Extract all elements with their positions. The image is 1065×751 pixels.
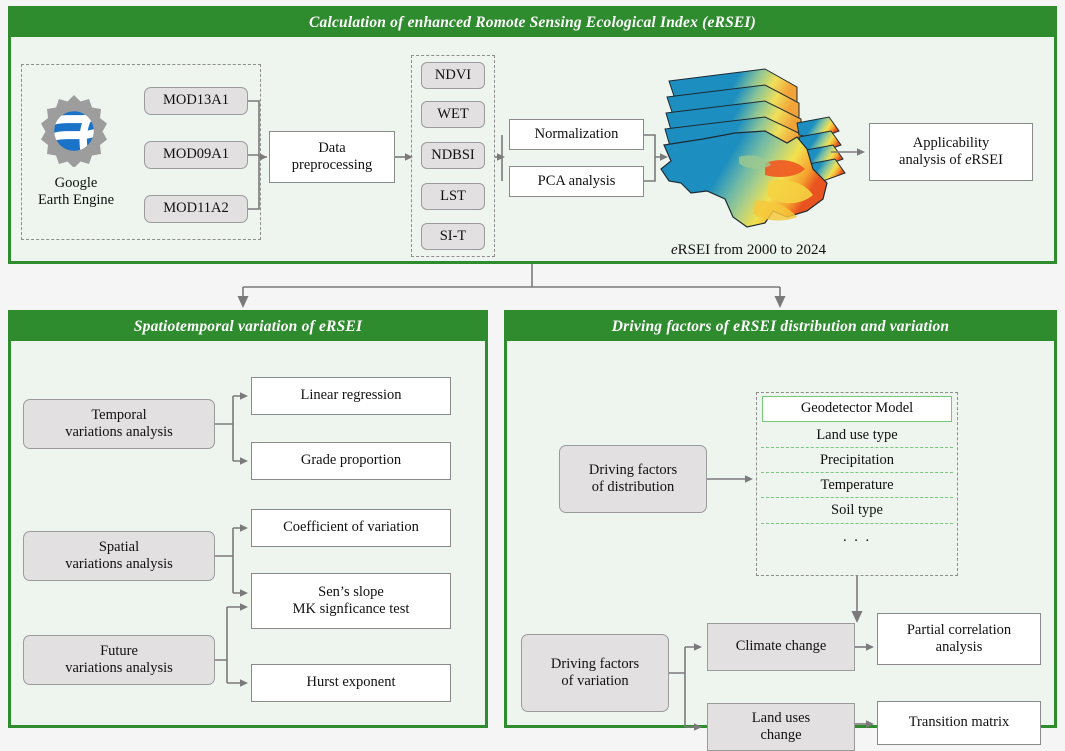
factor-label: Temperature xyxy=(820,477,893,493)
geodetector-factor-land-use-type[interactable]: Land use type xyxy=(757,427,957,444)
map-caption: eRSEI from 2000 to 2024 xyxy=(641,241,856,259)
applicability-line1: Applicability xyxy=(913,135,990,152)
panel-calculation: Calculation of enhanced Romote Sensing E… xyxy=(8,6,1057,264)
geodetector-divider-2 xyxy=(761,472,953,473)
panel-spatiotemporal-body: Temporal variations analysis Spatial var… xyxy=(11,341,485,725)
geodetector-group: Geodetector Model Land use type Precipit… xyxy=(756,392,958,576)
variation-line2: of variation xyxy=(561,673,628,690)
group-temporal-line2: variations analysis xyxy=(65,424,173,441)
sens-slope-line1: Sen’s slope xyxy=(318,584,384,601)
driver-box-climate-change[interactable]: Climate change xyxy=(707,623,855,671)
method-box-hurst-exponent[interactable]: Hurst exponent xyxy=(251,664,451,702)
land-uses-change-line2: change xyxy=(760,727,801,744)
factor-label: . . . xyxy=(843,529,871,545)
group-future-line2: variations analysis xyxy=(65,660,173,677)
indicator-box-lst[interactable]: LST xyxy=(421,183,485,210)
map-caption-prefix: e xyxy=(671,242,678,258)
land-uses-change-line1: Land uses xyxy=(752,710,810,727)
partial-correlation-line1: Partial correlation xyxy=(907,622,1011,639)
geodetector-factor-precipitation[interactable]: Precipitation xyxy=(757,452,957,469)
panel-calculation-title: Calculation of enhanced Romote Sensing E… xyxy=(11,9,1054,37)
panel-driving-factors-title: Driving factors of eRSEI distribution an… xyxy=(507,313,1054,341)
map-caption-text: RSEI from 2000 to 2024 xyxy=(678,242,826,258)
panel-spatiotemporal-title: Spatiotemporal variation of eRSEI xyxy=(11,313,485,341)
dataset-box-mod11a2[interactable]: MOD11A2 xyxy=(144,195,248,223)
geodetector-factor-ellipsis: . . . xyxy=(757,529,957,546)
data-preprocessing-box[interactable]: Data preprocessing xyxy=(269,131,395,183)
factor-label: Land use type xyxy=(816,427,897,443)
indicator-box-ndvi[interactable]: NDVI xyxy=(421,62,485,89)
platform-label-line2: Earth Engine xyxy=(21,192,131,209)
geodetector-model-header[interactable]: Geodetector Model xyxy=(762,396,952,422)
method-box-normalization[interactable]: Normalization xyxy=(509,119,644,150)
dataset-box-mod13a1[interactable]: MOD13A1 xyxy=(144,87,248,115)
factor-label: Soil type xyxy=(831,502,883,518)
geodetector-divider-4 xyxy=(761,523,953,524)
factor-label: Precipitation xyxy=(820,452,894,468)
driving-factors-distribution-box[interactable]: Driving factors of distribution xyxy=(559,445,707,513)
result-box-partial-correlation[interactable]: Partial correlation analysis xyxy=(877,613,1041,665)
method-box-coefficient-of-variation[interactable]: Coefficient of variation xyxy=(251,509,451,547)
platform-label: Google Earth Engine xyxy=(21,175,131,210)
driving-factors-variation-box[interactable]: Driving factors of variation xyxy=(521,634,669,712)
platform-label-line1: Google xyxy=(21,175,131,192)
variation-line1: Driving factors xyxy=(551,656,639,673)
geodetector-factor-soil-type[interactable]: Soil type xyxy=(757,502,957,519)
applicability-line2-pre: analysis of xyxy=(899,152,965,168)
mk-test-line2: MK signficance test xyxy=(293,601,410,618)
applicability-output-box[interactable]: Applicability analysis of eRSEI xyxy=(869,123,1033,181)
result-box-transition-matrix[interactable]: Transition matrix xyxy=(877,701,1041,745)
method-box-sens-slope-mk-test[interactable]: Sen’s slope MK signficance test xyxy=(251,573,451,629)
google-earth-engine-logo xyxy=(37,93,111,167)
group-box-temporal-variations[interactable]: Temporal variations analysis xyxy=(23,399,215,449)
panel-driving-factors: Driving factors of eRSEI distribution an… xyxy=(504,310,1057,728)
panel-calculation-body: Google Earth Engine MOD13A1 MOD09A1 MOD1… xyxy=(11,37,1054,261)
distribution-line1: Driving factors xyxy=(589,462,677,479)
geodetector-divider-3 xyxy=(761,497,953,498)
driver-box-land-uses-change[interactable]: Land uses change xyxy=(707,703,855,751)
stacked-raster-map-icon xyxy=(647,65,852,240)
method-box-linear-regression[interactable]: Linear regression xyxy=(251,377,451,415)
panel-spatiotemporal: Spatiotemporal variation of eRSEI Tempor… xyxy=(8,310,488,728)
indicator-box-wet[interactable]: WET xyxy=(421,101,485,128)
method-box-pca[interactable]: PCA analysis xyxy=(509,166,644,197)
indicator-box-sit[interactable]: SI-T xyxy=(421,223,485,250)
group-box-spatial-variations[interactable]: Spatial variations analysis xyxy=(23,531,215,581)
group-temporal-line1: Temporal xyxy=(91,407,146,424)
panel-driving-factors-body: Driving factors of distribution Driving … xyxy=(507,341,1054,725)
distribution-line2: of distribution xyxy=(592,479,675,496)
geodetector-divider-1 xyxy=(761,447,953,448)
method-box-grade-proportion[interactable]: Grade proportion xyxy=(251,442,451,480)
group-box-future-variations[interactable]: Future variations analysis xyxy=(23,635,215,685)
applicability-line2-post: RSEI xyxy=(972,152,1003,168)
data-preprocessing-line1: Data xyxy=(318,140,345,157)
group-future-line1: Future xyxy=(100,643,138,660)
group-spatial-line1: Spatial xyxy=(99,539,139,556)
indicator-box-ndbsi[interactable]: NDBSI xyxy=(421,142,485,169)
dataset-box-mod09a1[interactable]: MOD09A1 xyxy=(144,141,248,169)
partial-correlation-line2: analysis xyxy=(936,639,983,656)
data-preprocessing-line2: preprocessing xyxy=(292,157,373,174)
group-spatial-line2: variations analysis xyxy=(65,556,173,573)
geodetector-factor-temperature[interactable]: Temperature xyxy=(757,477,957,494)
applicability-line2: analysis of eRSEI xyxy=(899,152,1003,169)
